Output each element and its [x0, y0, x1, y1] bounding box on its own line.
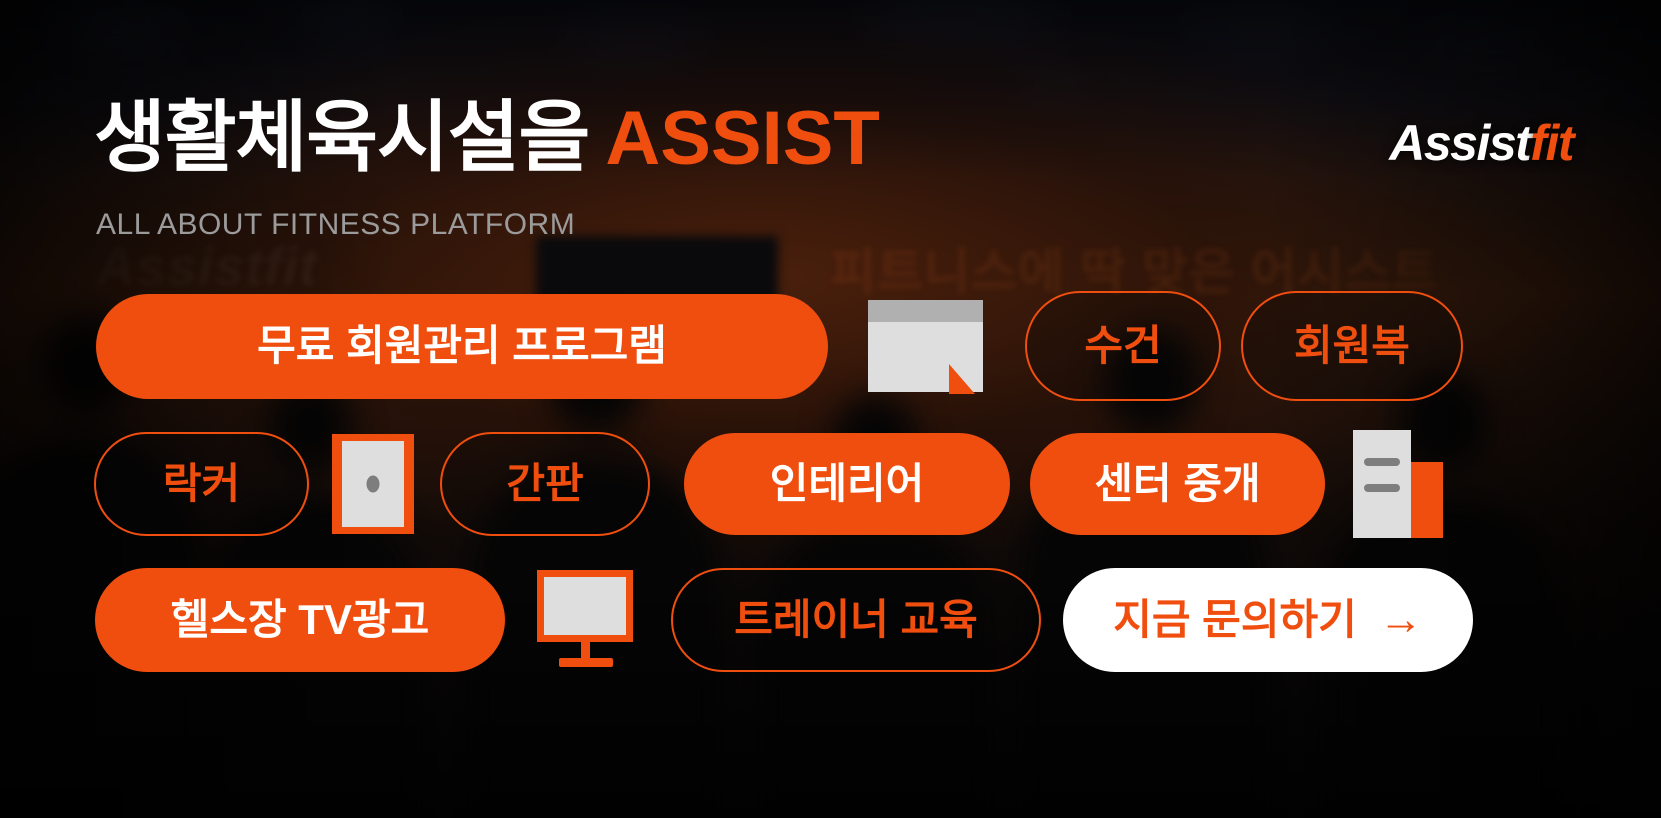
locker-door-panel: [342, 441, 404, 527]
pill-locker[interactable]: 락커: [94, 432, 309, 536]
browser-window-cursor-icon: [868, 300, 983, 392]
promo-banner: Assistfit 피트니스에 딱 맞은 어시스트 생활체육시설을ASSIST …: [0, 0, 1661, 818]
subheadline: ALL ABOUT FITNESS PLATFORM: [96, 208, 575, 242]
document-icon: [1353, 430, 1453, 538]
cursor-arrow-icon: [949, 364, 975, 394]
pill-member-uniform[interactable]: 회원복: [1241, 291, 1463, 401]
document-line: [1364, 484, 1400, 492]
document-line: [1364, 458, 1400, 466]
pill-contact-now-cta[interactable]: 지금 문의하기 →: [1063, 568, 1473, 672]
locker-knob-icon: [367, 476, 380, 493]
monitor-stand-neck: [581, 642, 590, 658]
pill-gym-tv-ad[interactable]: 헬스장 TV광고: [95, 568, 505, 672]
pill-trainer-education[interactable]: 트레이너 교육: [671, 568, 1041, 672]
pill-towel[interactable]: 수건: [1025, 291, 1221, 401]
banner-content: 생활체육시설을ASSIST ALL ABOUT FITNESS PLATFORM…: [0, 0, 1661, 818]
pill-free-member-program[interactable]: 무료 회원관리 프로그램: [96, 294, 828, 399]
arrow-right-icon: →: [1379, 602, 1423, 637]
tag-row-1: 무료 회원관리 프로그램 수건 회원복: [96, 291, 1463, 401]
cta-label: 지금 문의하기: [1113, 599, 1357, 641]
monitor-icon: [537, 570, 641, 670]
window-titlebar: [868, 300, 983, 322]
monitor-screen: [537, 570, 633, 642]
tag-row-3: 헬스장 TV광고 트레이너 교육 지금 문의하기 →: [95, 568, 1473, 672]
headline-english: ASSIST: [605, 96, 880, 181]
page-title: 생활체육시설을ASSIST: [94, 98, 880, 177]
monitor-stand-base: [559, 658, 613, 667]
logo-text-fit: fit: [1530, 115, 1573, 171]
pill-interior[interactable]: 인테리어: [684, 433, 1010, 535]
locker-door-icon: [332, 434, 414, 534]
pill-center-brokerage[interactable]: 센터 중개: [1030, 433, 1325, 535]
assistfit-logo[interactable]: Assistfit: [1389, 114, 1573, 172]
headline-korean: 생활체육시설을: [94, 93, 589, 181]
document-accent-block: [1411, 462, 1443, 538]
logo-text-assist: Assist: [1389, 115, 1530, 171]
pill-signboard[interactable]: 간판: [440, 432, 650, 536]
tag-row-2: 락커 간판 인테리어 센터 중개: [94, 430, 1453, 538]
